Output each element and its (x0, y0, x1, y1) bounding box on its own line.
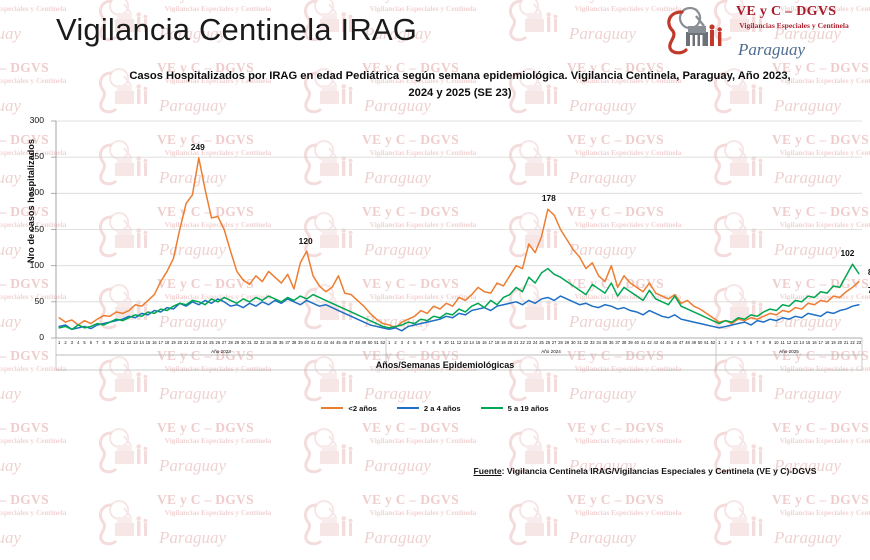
watermark-script: Paraguay (774, 528, 841, 548)
watermark-script: Paraguay (0, 528, 21, 548)
logo-script: Paraguay (738, 40, 805, 60)
legend-swatch (397, 407, 419, 409)
watermark-title: VE y C – DGVS (772, 492, 869, 508)
logo-title: VE y C – DGVS (736, 4, 836, 20)
legend-label: 5 a 19 años (508, 404, 549, 413)
x-year-label: Año 2024 (386, 349, 716, 354)
series-line (59, 296, 859, 331)
watermark-title: VE y C – DGVS (157, 492, 254, 508)
watermark-subtitle: Vigilancias Especiales y Centinela (565, 508, 691, 518)
brand-logo: VE y C – DGVS Vigilancias Especiales y C… (660, 2, 860, 58)
x-axis-title: Años/Semanas Epidemiológicas (335, 360, 555, 370)
page-title: Vigilancia Centinela IRAG (56, 12, 417, 48)
source-text: : Vigilancia Centinela IRAG/Vigilancias … (502, 466, 817, 476)
chart-subtitle: Casos Hospitalizados por IRAG en edad Pe… (120, 68, 800, 102)
data-label: 102 (840, 248, 854, 258)
watermark-script: Paraguay (159, 528, 226, 548)
source-note: Fuente: Vigilancia Centinela IRAG/Vigila… (430, 466, 860, 476)
legend-item[interactable]: 2 a 4 años (397, 404, 461, 413)
series-line (59, 158, 859, 328)
source-label: Fuente (473, 466, 501, 476)
watermark-subtitle: Vigilancias Especiales y Centinela (155, 508, 281, 518)
data-label: 178 (542, 193, 556, 203)
x-year-label: Año 2023 (56, 349, 386, 354)
logo-subtitle: Vigilancias Especiales y Centinela (732, 21, 856, 31)
logo-emblem-icon (660, 2, 734, 58)
legend-label: <2 años (348, 404, 377, 413)
data-label: 249 (191, 142, 205, 152)
x-week-label: 23 (853, 340, 865, 345)
chart-legend: <2 años2 a 4 años5 a 19 años (285, 400, 585, 416)
watermark-title: VE y C – DGVS (362, 492, 459, 508)
legend-swatch (481, 407, 503, 409)
data-label: 120 (299, 236, 313, 246)
watermark-title: VE y C – DGVS (0, 492, 49, 508)
watermark-title: VE y C – DGVS (567, 492, 664, 508)
watermark-subtitle: Vigilancias Especiales y Centinela (770, 508, 870, 518)
x-year-label: Año 2025 (716, 349, 862, 354)
y-axis-title: Nro de casos hospitalizados (26, 116, 36, 286)
watermark-script: Paraguay (364, 528, 431, 548)
y-tick-label: 0 (10, 332, 44, 342)
watermark-subtitle: Vigilancias Especiales y Centinela (0, 508, 76, 518)
legend-swatch (321, 407, 343, 409)
watermark-subtitle: Vigilancias Especiales y Centinela (360, 508, 486, 518)
legend-label: 2 a 4 años (424, 404, 461, 413)
legend-item[interactable]: 5 a 19 años (481, 404, 549, 413)
legend-item[interactable]: <2 años (321, 404, 377, 413)
y-tick-label: 50 (10, 296, 44, 306)
watermark-script: Paraguay (569, 528, 636, 548)
